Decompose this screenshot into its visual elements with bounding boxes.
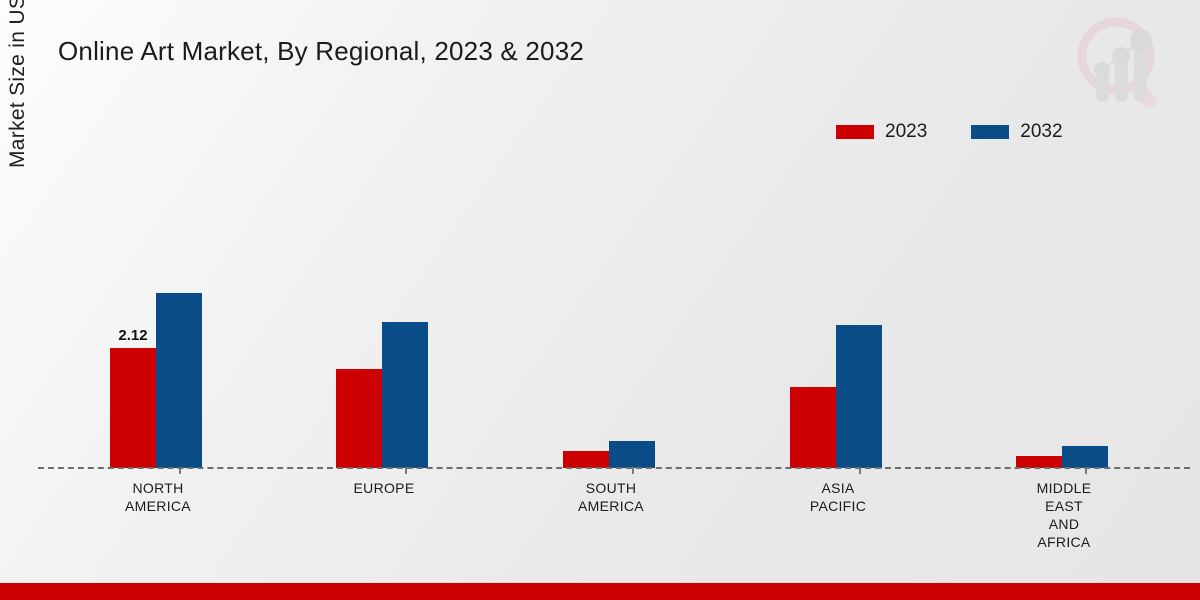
bar-2023[interactable]: 2.12 xyxy=(110,348,156,468)
y-axis-label: Market Size in USD Billion xyxy=(0,0,36,168)
bar-value-label: 2.12 xyxy=(118,327,147,344)
chart-figure: Online Art Market, By Regional, 2023 & 2… xyxy=(0,0,1200,600)
page-title: Online Art Market, By Regional, 2023 & 2… xyxy=(58,36,584,67)
bar-2023[interactable] xyxy=(336,369,382,468)
x-tick-label-middle-east-and-africa: MIDDLE EAST AND AFRICA xyxy=(979,479,1149,551)
bar-group xyxy=(563,150,655,468)
x-tick-label-line: ASIA xyxy=(753,479,923,497)
bar-group: 2.12 xyxy=(110,150,202,468)
bar-2032[interactable] xyxy=(609,441,655,468)
x-tick-label-south-america: SOUTH AMERICA xyxy=(526,479,696,515)
chart-legend: 2023 2032 xyxy=(836,121,1063,143)
legend-swatch-2023 xyxy=(836,125,874,139)
legend-label: 2023 xyxy=(885,121,927,143)
x-tick-label-line: EAST xyxy=(979,497,1149,515)
x-tick-label-line: AMERICA xyxy=(526,497,696,515)
x-tick-label-north-america: NORTH AMERICA xyxy=(73,479,243,515)
x-tick-label-line: EUROPE xyxy=(299,479,469,497)
legend-swatch-2032 xyxy=(971,125,1009,139)
x-tick-label-line: NORTH xyxy=(73,479,243,497)
x-tick-label-line: PACIFIC xyxy=(753,497,923,515)
x-tick-label-asia-pacific: ASIA PACIFIC xyxy=(753,479,923,515)
footer-accent-band xyxy=(0,583,1200,600)
bar-group xyxy=(336,150,428,468)
legend-item[interactable]: 2023 xyxy=(836,121,927,143)
x-tick-label-line: AND xyxy=(979,515,1149,533)
bar-group xyxy=(1016,150,1108,468)
legend-item[interactable]: 2032 xyxy=(971,121,1062,143)
bar-2023[interactable] xyxy=(790,387,836,468)
bar-2032[interactable] xyxy=(836,325,882,468)
legend-label: 2032 xyxy=(1020,121,1062,143)
x-tick-label-line: MIDDLE xyxy=(979,479,1149,497)
x-tick-label-europe: EUROPE xyxy=(299,479,469,497)
bar-2032[interactable] xyxy=(156,293,202,468)
x-tick-label-line: SOUTH xyxy=(526,479,696,497)
bar-group xyxy=(790,150,882,468)
plot-area: 2.12 xyxy=(38,150,1188,468)
axis-baseline xyxy=(38,467,1190,469)
bar-2032[interactable] xyxy=(1062,446,1108,468)
magnifier-bar-chart-logo-icon xyxy=(1068,12,1178,114)
bar-2023[interactable] xyxy=(563,451,609,468)
x-tick-label-line: AFRICA xyxy=(979,533,1149,551)
bar-2032[interactable] xyxy=(382,322,428,468)
x-tick-label-line: AMERICA xyxy=(73,497,243,515)
